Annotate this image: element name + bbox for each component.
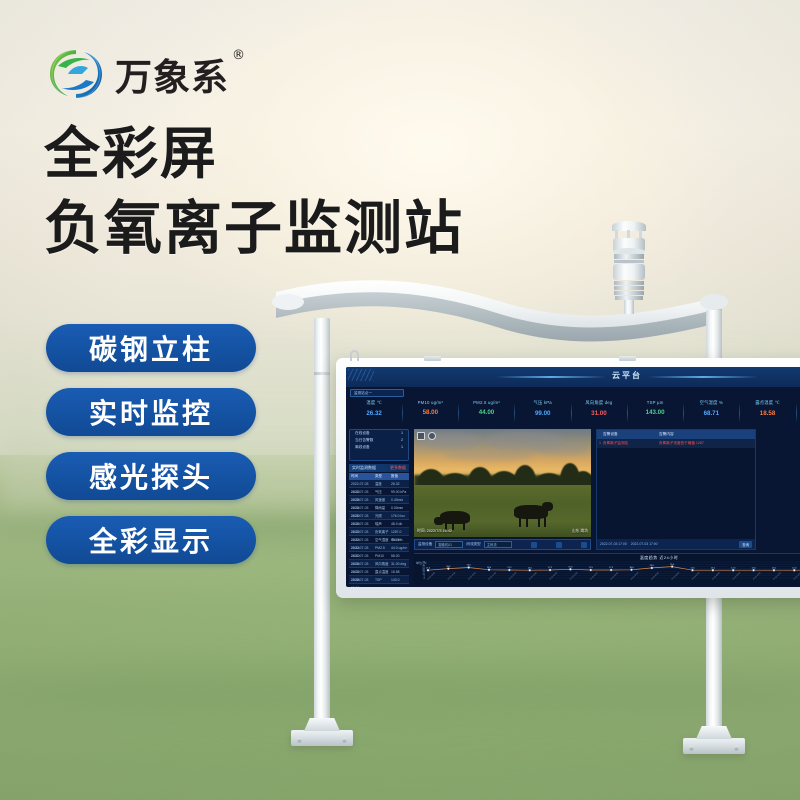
led-display-panel: 云平台 监测站点一 2022/7/3 16:42 温度 ℃ 26.32 PM10… xyxy=(336,358,800,598)
metric-value: 31.00 xyxy=(571,410,627,417)
stream-type-select[interactable]: 主码流 xyxy=(484,541,512,548)
anchor-bolt xyxy=(297,738,302,743)
cell-time: 2022-07-03 16:26 xyxy=(349,512,375,519)
svg-text:17.0: 17.0 xyxy=(711,567,716,569)
base-plate-right xyxy=(683,738,745,754)
video-timestamp: 时间: 2022/7/3 16:42 xyxy=(417,529,452,534)
support-post-left xyxy=(314,318,330,730)
cell-type: TSP xyxy=(375,576,391,583)
table-row[interactable]: 2022-07-03 16:14 空气湿度 68.71% xyxy=(349,536,409,544)
chart-unit-label: 单位: ℃ xyxy=(416,561,427,565)
cell-value: 99.00 kPa xyxy=(391,488,409,495)
cell-type: 负氧离子 xyxy=(375,528,391,535)
metric-value: 58.00 xyxy=(402,409,458,416)
cell-time: 2022-07-03 15:58 xyxy=(349,568,375,575)
metric-value: 143.00 xyxy=(627,409,683,416)
column-header-type: 类型 xyxy=(375,473,391,480)
cell-time: 2022-07-03 15:54 xyxy=(349,576,375,583)
record-icon[interactable] xyxy=(531,542,537,548)
cell-value: 18.58 xyxy=(391,568,409,575)
cell-time: 2022-07-03 16:38 xyxy=(349,488,375,495)
cell-type: 噪声 xyxy=(375,520,391,527)
metric-wind-direction: 风向角度 deg 31.00 xyxy=(571,400,627,426)
table-row[interactable]: 2022-07-03 16:06 PM10 58.00 xyxy=(349,552,409,560)
cell-type: 降雨量 xyxy=(375,504,391,511)
svg-text:17.0: 17.0 xyxy=(792,567,797,569)
cell-value: 1287.0 个/cm³ xyxy=(391,528,409,535)
post-seam xyxy=(314,372,330,375)
cell-time: 2022-07-03 16:02 xyxy=(349,560,375,567)
metric-pm25: PM2.5 ug/m³ 44.00 xyxy=(458,400,514,426)
table-row[interactable]: 2022-07-03 16:42 温度 26.32 xyxy=(349,480,409,488)
cell-type: PM2.5 xyxy=(375,544,391,551)
table-row[interactable]: 2022-07-03 15:58 露点温度 18.58 xyxy=(349,568,409,576)
svg-text:17.0: 17.0 xyxy=(731,567,736,569)
table-body: 2022-07-03 16:42 温度 26.32 2022-07-03 16:… xyxy=(349,480,409,584)
snapshot-icon[interactable] xyxy=(428,432,436,440)
cell-type: 气压 xyxy=(375,488,391,495)
more-data-link[interactable]: 更多数据 xyxy=(390,464,406,472)
alarm-date-to[interactable]: 2022-07-03 17:00 xyxy=(631,542,658,546)
svg-text:17.0: 17.0 xyxy=(752,567,757,569)
metric-label: 空气湿度 % xyxy=(683,400,739,406)
capture-icon[interactable] xyxy=(556,542,562,548)
cell-value: 44.0 ug/m³ xyxy=(391,544,409,551)
trend-chart: 温度趋势 近24小时 温度 ℃ 单位: ℃ 0510152025303517.0… xyxy=(414,553,800,585)
cell-value: 0.40m/s xyxy=(391,496,409,503)
control-label-device: 监测设备 xyxy=(418,542,432,547)
cell-time: 2022-07-03 16:18 xyxy=(349,528,375,535)
camera-control-bar: 监测设备 摄像机01 码流类型 主码流 xyxy=(414,539,591,550)
table-row[interactable]: 2022-07-03 16:30 降雨量 0.00mm xyxy=(349,504,409,512)
cell-value: 26.32 xyxy=(391,480,409,487)
metric-temperature: 温度 ℃ 26.32 xyxy=(346,400,402,426)
cell-time: 2022-07-03 16:06 xyxy=(349,552,375,559)
camera-live-feed[interactable]: 时间: 2022/7/3 16:42 山东 潍坊 xyxy=(414,429,591,537)
alarm-panel: 告警设备 告警内容 1 负氧离子监测站 负氧离子浓度低于阈值 1287 2022… xyxy=(596,429,756,550)
left-column: 在线设备 1 当日告警数 2 离线设备 1 实时监测数据 更多数据 xyxy=(349,429,409,585)
table-header: 时间 类型 数值 xyxy=(349,473,409,480)
alarm-device: 负氧离子监测站 xyxy=(603,439,659,448)
control-label-stream: 码流类型 xyxy=(466,542,480,547)
metric-label: TSP μm xyxy=(627,400,683,405)
svg-text:25.0: 25.0 xyxy=(670,564,675,566)
stat-row: 离线设备 1 xyxy=(350,444,408,451)
column-header-value: 数值 xyxy=(391,473,409,480)
table-row[interactable]: 2022-07-03 16:02 风向角度 31.00 deg xyxy=(349,560,409,568)
svg-text:17.0: 17.0 xyxy=(772,567,777,569)
stat-value: 1 xyxy=(401,445,403,450)
alarm-content: 负氧离子浓度低于阈值 1287 xyxy=(659,439,755,448)
mount-tab xyxy=(424,356,441,361)
cell-value: 68.71% xyxy=(391,536,409,543)
mount-hook-left xyxy=(350,350,359,361)
table-row[interactable]: 2022-07-03 16:38 气压 99.00 kPa xyxy=(349,488,409,496)
metric-value: 99.00 xyxy=(515,410,571,417)
table-row[interactable]: 2022-07-03 15:54 TSP 143.0 xyxy=(349,576,409,584)
table-row[interactable]: 2022-07-03 16:10 PM2.5 44.0 ug/m³ xyxy=(349,544,409,552)
alarm-filter-bar: 2022-07-03 17:00 2022-07-03 17:00 查询 xyxy=(597,539,755,549)
cell-value: 176.0 lux xyxy=(391,512,409,519)
cell-type: 空气湿度 xyxy=(375,536,391,543)
ultrasonic-weather-sensor xyxy=(600,218,658,314)
alarm-col-content: 告警内容 xyxy=(659,430,755,439)
svg-text:17.0: 17.0 xyxy=(690,567,695,569)
svg-text:19.0: 19.0 xyxy=(568,567,573,569)
svg-text:17.0: 17.0 xyxy=(528,567,533,569)
cell-value: 143.0 xyxy=(391,576,409,583)
screen-header: 云平台 xyxy=(346,367,800,387)
metric-label: 温度 ℃ xyxy=(346,400,402,406)
alarm-table-header: 告警设备 告警内容 xyxy=(597,430,755,439)
cell-type: 风速度 xyxy=(375,496,391,503)
fullscreen-icon[interactable] xyxy=(417,432,425,440)
metric-label: 风向角度 deg xyxy=(571,400,627,406)
mount-tab xyxy=(619,356,636,361)
cell-time: 2022-07-03 16:34 xyxy=(349,496,375,503)
cell-type: 温度 xyxy=(375,480,391,487)
svg-text:17.0: 17.0 xyxy=(426,567,431,569)
table-row[interactable]: 2022-07-03 16:34 风速度 0.40m/s xyxy=(349,496,409,504)
anchor-bolt xyxy=(342,738,347,743)
cell-time: 2022-07-03 16:30 xyxy=(349,504,375,511)
metric-pm10: PM10 ug/m³ 58.00 xyxy=(402,400,458,426)
camera-select[interactable]: 摄像机01 xyxy=(435,541,463,548)
metric-humidity: 空气湿度 % 68.71 xyxy=(683,400,739,426)
metric-label: 气压 kPa xyxy=(515,400,571,406)
metric-label: PM10 ug/m³ xyxy=(402,400,458,405)
svg-text:20.5: 20.5 xyxy=(446,566,451,568)
table-row[interactable]: 2022-07-03 16:18 负氧离子 1287.0 个/cm³ xyxy=(349,528,409,536)
alarm-row[interactable]: 1 负氧离子监测站 负氧离子浓度低于阈值 1287 xyxy=(597,439,755,448)
alarm-query-button[interactable]: 查询 xyxy=(739,541,752,548)
metric-dew-point: 露点温度 ℃ 18.58 xyxy=(739,400,795,426)
cell-time: 2022-07-03 16:14 xyxy=(349,536,375,543)
cell-type: 露点温度 xyxy=(375,568,391,575)
stat-value: 1 xyxy=(401,431,403,436)
table-row[interactable]: 2022-07-03 16:22 噪声 48.0 db xyxy=(349,520,409,528)
cell-time: 2022-07-03 16:22 xyxy=(349,520,375,527)
metric-pressure: 气压 kPa 99.00 xyxy=(515,400,571,426)
cell-type: 风向角度 xyxy=(375,560,391,567)
cell-value: 48.0 db xyxy=(391,520,409,527)
stat-row: 在线设备 1 xyxy=(350,430,408,437)
screen-content: 云平台 监测站点一 2022/7/3 16:42 温度 ℃ 26.32 PM10… xyxy=(346,367,800,587)
cow-head xyxy=(542,502,553,511)
cell-type: PM10 xyxy=(375,552,391,559)
stat-value: 2 xyxy=(401,438,403,443)
svg-text:22.0: 22.0 xyxy=(650,565,655,567)
base-plate-left xyxy=(291,730,353,746)
device-stats-box: 在线设备 1 当日告警数 2 离线设备 1 xyxy=(349,429,409,461)
site-select[interactable]: 监测站点一 xyxy=(350,389,404,397)
cell-time: 2022-07-03 16:10 xyxy=(349,544,375,551)
screen-title: 云平台 xyxy=(346,370,800,381)
stat-label: 离线设备 xyxy=(355,445,370,450)
cell-time: 2022-07-03 16:42 xyxy=(349,480,375,487)
alarm-date-from[interactable]: 2022-07-03 17:00 xyxy=(600,542,627,546)
metric-value: 68.71 xyxy=(683,410,739,417)
stat-label: 在线设备 xyxy=(355,431,370,436)
stat-label: 当日告警数 xyxy=(355,438,373,443)
anchor-bolt xyxy=(734,746,739,751)
table-row[interactable]: 2022-07-03 16:26 光照 176.0 lux xyxy=(349,512,409,520)
metric-tsp: TSP μm 143.00 xyxy=(627,400,683,426)
cell-value: 0.00mm xyxy=(391,504,409,511)
data-table-title: 实时监测数据 更多数据 xyxy=(349,464,409,472)
metric-value: 44.00 xyxy=(458,409,514,416)
video-location-tag: 山东 潍坊 xyxy=(572,529,588,534)
stat-row: 当日告警数 2 xyxy=(350,437,408,444)
chart-title: 温度趋势 近24小时 xyxy=(414,555,800,561)
anchor-bolt xyxy=(689,746,694,751)
column-header-time: 时间 xyxy=(349,473,375,480)
cell-value: 58.00 xyxy=(391,552,409,559)
alarm-col-device: 告警设备 xyxy=(603,430,659,439)
cell-type: 光照 xyxy=(375,512,391,519)
metric-label: PM2.5 ug/m³ xyxy=(458,400,514,405)
metric-value: 18.58 xyxy=(739,410,795,417)
cell-value: 31.00 deg xyxy=(391,560,409,567)
metric-value: 26.32 xyxy=(346,410,402,417)
settings-icon[interactable] xyxy=(581,542,587,548)
metrics-strip: 温度 ℃ 26.32 PM10 ug/m³ 58.00 PM2.5 ug/m³ … xyxy=(346,400,800,426)
cow-head xyxy=(434,517,444,525)
monitoring-station: 云平台 监测站点一 2022/7/3 16:42 温度 ℃ 26.32 PM10… xyxy=(0,0,800,800)
table-title-text: 实时监测数据 xyxy=(352,465,376,470)
metric-label: 露点温度 ℃ xyxy=(739,400,795,406)
